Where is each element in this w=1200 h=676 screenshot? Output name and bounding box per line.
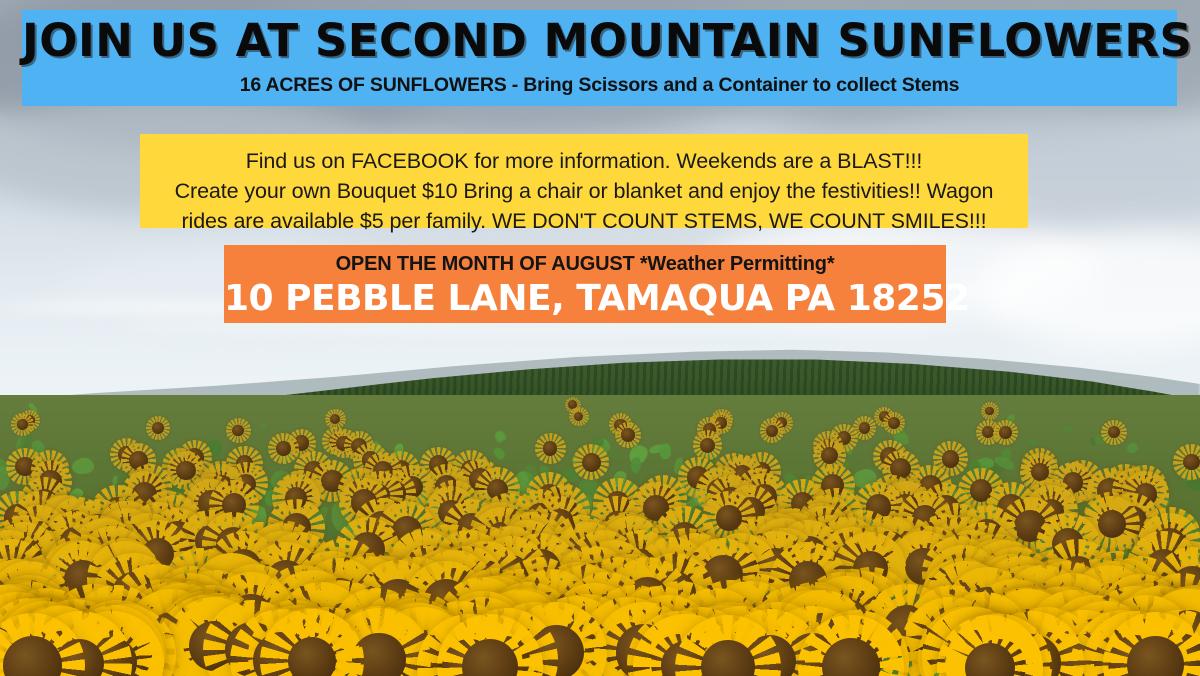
page-title: JOIN US AT SECOND MOUNTAIN SUNFLOWERS (22, 15, 1177, 67)
sunflower-event-poster: JOIN US AT SECOND MOUNTAIN SUNFLOWERS 16… (0, 0, 1200, 676)
subtitle: 16 ACRES OF SUNFLOWERS - Bring Scissors … (22, 73, 1177, 97)
sunflower (993, 420, 1018, 445)
slogan-emphasis: WE DON'T COUNT STEMS, WE COUNT SMILES!!! (492, 209, 987, 233)
sunflower (760, 418, 785, 443)
info-banner: Find us on FACEBOOK for more information… (140, 134, 1028, 228)
sunflower-disc (232, 425, 244, 437)
info-line-2: Create your own Bouquet $10 Bring a chai… (156, 176, 1012, 206)
cloud-streak (120, 322, 940, 332)
hours-text: OPEN THE MONTH OF AUGUST *Weather Permit… (224, 251, 946, 277)
sunflower-disc (766, 425, 778, 437)
sunflower-disc (1098, 510, 1126, 538)
sunflower (798, 615, 904, 676)
sunflower (1173, 444, 1200, 480)
sunflower (937, 615, 1043, 676)
sunflower-disc (1183, 454, 1200, 471)
sunflower-disc (288, 637, 336, 676)
sunflower-disc (152, 422, 164, 434)
sunflower-blooms (0, 395, 1200, 676)
sunflower (1101, 420, 1126, 445)
sunflower (437, 614, 543, 676)
sunflower (981, 402, 999, 420)
sunflower-disc (859, 422, 871, 434)
sunflower-field (0, 395, 1200, 676)
sunflower (146, 416, 170, 440)
sunflower (0, 613, 85, 676)
sunflower-disc (582, 453, 601, 472)
info-line-1: Find us on FACEBOOK for more information… (156, 146, 1012, 176)
sunflower-disc (17, 419, 28, 430)
sunflower-disc (543, 441, 557, 455)
sunflower (883, 412, 905, 434)
sunflower (11, 413, 34, 436)
address-text: 10 PEBBLE LANE, TAMAQUA PA 18252 (224, 277, 946, 321)
sunflower-disc (276, 441, 291, 456)
sunflower (260, 609, 364, 676)
sunflower-disc (821, 447, 838, 464)
sunflower (615, 422, 641, 448)
headline-banner: JOIN US AT SECOND MOUNTAIN SUNFLOWERS 16… (22, 10, 1177, 106)
sunflower (573, 444, 609, 480)
sunflower (569, 407, 589, 427)
sunflower-disc (621, 428, 635, 442)
info-line-3: rides are available $5 per family. WE DO… (156, 206, 1012, 236)
sunflower (1103, 612, 1200, 676)
sunflower (535, 433, 566, 464)
info-line-3-plain: rides are available $5 per family. (181, 209, 491, 233)
address-banner: OPEN THE MONTH OF AUGUST *Weather Permit… (224, 245, 946, 323)
sunflower (226, 418, 251, 443)
sunflower-disc (999, 426, 1012, 439)
sunflower (675, 615, 781, 676)
sunflower-disc (700, 438, 715, 453)
